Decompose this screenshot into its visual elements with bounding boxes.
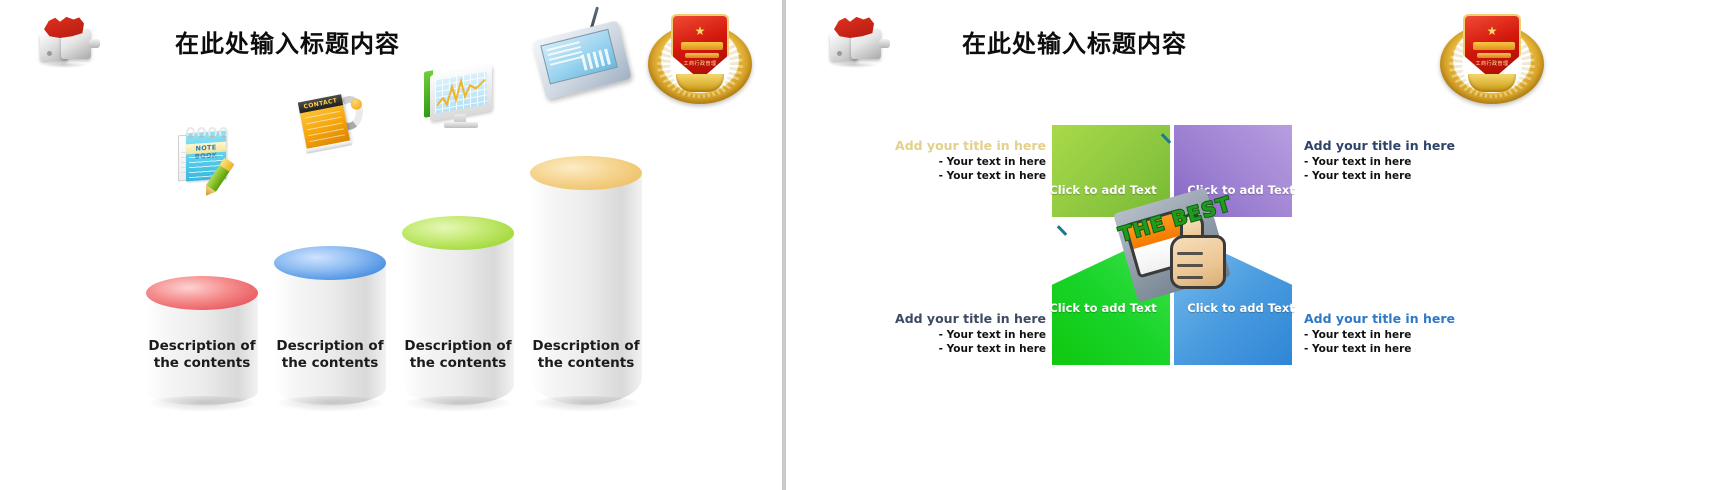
- monitor-chart-icon: [430, 70, 500, 132]
- column-1-label: Description of the contents: [134, 338, 270, 372]
- column-3-label-line2: the contents: [390, 355, 526, 372]
- callout-bottom-right-title: Add your title in here: [1304, 311, 1514, 326]
- tablet-pda-icon: [538, 30, 636, 106]
- contact-card-icon: CONTACT: [296, 98, 374, 168]
- puzzle-piece-icon: [826, 14, 888, 72]
- thumb-knuckle-3: [1177, 276, 1203, 279]
- emblem-band-lower: [1477, 53, 1511, 58]
- column-4-label-line1: Description of: [518, 338, 654, 355]
- column-4-label-line2: the contents: [518, 355, 654, 372]
- emblem-star: ★: [695, 25, 706, 37]
- puzzle-knob: [879, 39, 890, 48]
- column-4[interactable]: Description of the contents: [530, 100, 642, 405]
- callout-bottom-left-line-1: - Your text in here: [844, 329, 1046, 343]
- callout-top-right-line-1: - Your text in here: [1304, 156, 1514, 170]
- puzzle-shadow: [42, 62, 88, 68]
- column-1[interactable]: NOTE BOOK Description of the contents: [146, 190, 258, 405]
- column-3[interactable]: Description of the contents: [402, 130, 514, 405]
- callout-top-left-title: Add your title in here: [846, 138, 1046, 153]
- slide-right: 在此处输入标题内容 ★ 工商行政管理 Click to add Text C: [786, 0, 1720, 490]
- monitor-foot: [444, 122, 478, 128]
- column-1-label-line1: Description of: [134, 338, 270, 355]
- tablet-screen-rows: [546, 41, 584, 69]
- column-3-label-line1: Description of: [390, 338, 526, 355]
- notebook-rings: [186, 127, 228, 139]
- slide-left: 在此处输入标题内容 ★ 工商行政管理: [0, 0, 782, 490]
- column-2-cylinder: [274, 263, 386, 405]
- column-1-label-line2: the contents: [134, 355, 270, 372]
- slide-deck: 在此处输入标题内容 ★ 工商行政管理: [0, 0, 1720, 490]
- thumb-knuckle-2: [1177, 264, 1203, 267]
- callout-bottom-left-title: Add your title in here: [844, 311, 1046, 326]
- emblem-band-lower: [685, 53, 719, 58]
- column-3-cylinder: [402, 233, 514, 405]
- column-2[interactable]: CONTACT Description of the contents: [274, 160, 386, 405]
- tablet-screen-bars: [581, 48, 612, 70]
- emblem-band-upper: [681, 42, 723, 50]
- contact-card-lines: [305, 111, 345, 143]
- column-1-base-shadow: [148, 396, 256, 412]
- emblem-star: ★: [1487, 25, 1498, 37]
- callout-top-right-title: Add your title in here: [1304, 138, 1514, 153]
- thumb-knuckle-1: [1177, 252, 1203, 255]
- page-title: 在此处输入标题内容: [175, 24, 400, 59]
- callout-bottom-right-line-1: - Your text in here: [1304, 329, 1514, 343]
- column-2-base-shadow: [276, 396, 384, 412]
- callout-top-left-line-2: - Your text in here: [846, 170, 1046, 184]
- puzzle-shadow: [832, 62, 878, 68]
- puzzle-knob: [89, 39, 100, 48]
- callout-bottom-left-line-2: - Your text in here: [844, 343, 1046, 357]
- emblem-band-upper: [1473, 42, 1515, 50]
- thumb-fist: [1170, 235, 1226, 289]
- monitor-body: [430, 65, 492, 122]
- callout-top-left-line-1: - Your text in here: [846, 156, 1046, 170]
- callout-bottom-left[interactable]: Add your title in here - Your text in he…: [844, 311, 1046, 356]
- government-emblem-icon: ★ 工商行政管理: [648, 12, 752, 104]
- notebook-pencil-icon: NOTE BOOK: [162, 128, 244, 200]
- pencil-ferrule: [219, 158, 234, 172]
- column-2-label: Description of the contents: [262, 338, 398, 372]
- page-title: 在此处输入标题内容: [962, 24, 1187, 59]
- column-2-label-line1: Description of: [262, 338, 398, 355]
- emblem-ribbon: [1468, 74, 1516, 92]
- callout-bottom-right-line-2: - Your text in here: [1304, 343, 1514, 357]
- four-arrow-diagram: Click to add Text Click to add Text Clic…: [1052, 125, 1292, 365]
- column-4-base-shadow: [532, 396, 640, 412]
- column-2-cap: [274, 246, 386, 280]
- callout-top-right[interactable]: Add your title in here - Your text in he…: [1304, 138, 1514, 183]
- contact-card: CONTACT: [298, 94, 350, 150]
- callout-bottom-right[interactable]: Add your title in here - Your text in he…: [1304, 311, 1514, 356]
- center-badge[interactable]: THE BEST: [1110, 181, 1238, 309]
- government-emblem-icon: ★ 工商行政管理: [1440, 12, 1544, 104]
- column-3-cap: [402, 216, 514, 250]
- emblem-ribbon: [676, 74, 724, 92]
- column-2-label-line2: the contents: [262, 355, 398, 372]
- column-4-label: Description of the contents: [518, 338, 654, 372]
- puzzle-piece-icon: [36, 14, 98, 72]
- column-4-cap: [530, 156, 642, 190]
- column-3-label: Description of the contents: [390, 338, 526, 372]
- column-3-base-shadow: [404, 396, 512, 412]
- callout-top-left[interactable]: Add your title in here - Your text in he…: [846, 138, 1046, 183]
- column-1-cap: [146, 276, 258, 310]
- callout-top-right-line-2: - Your text in here: [1304, 170, 1514, 184]
- tablet-screen: [540, 29, 618, 85]
- tablet-body: [532, 20, 632, 100]
- monitor-screen: [435, 70, 487, 113]
- monitor-chart-line: [435, 70, 487, 113]
- pencil-tip: [201, 185, 216, 199]
